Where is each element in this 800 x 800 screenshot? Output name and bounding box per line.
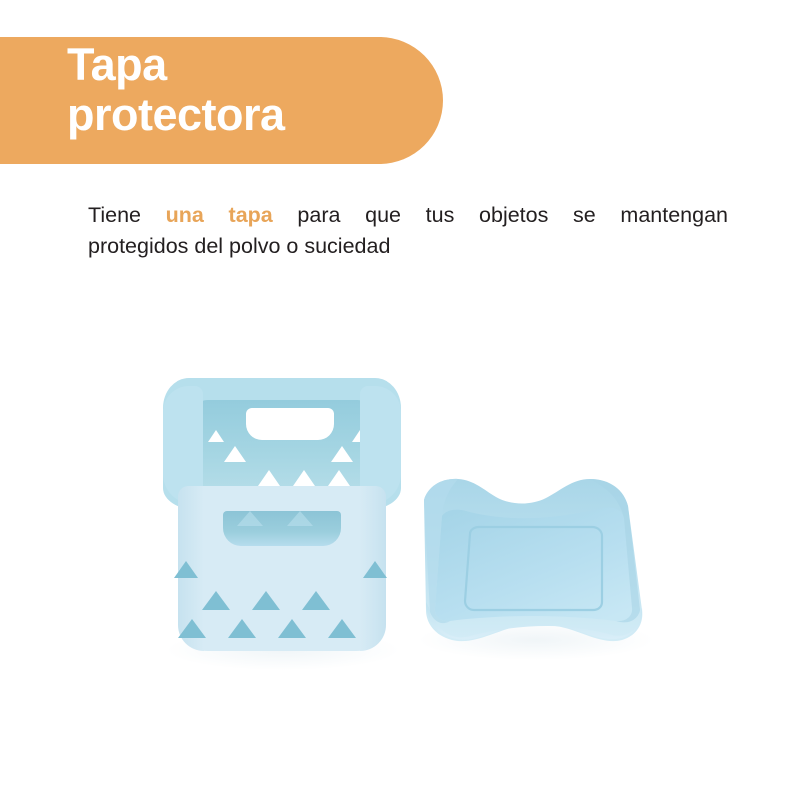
basket-front-triangle (202, 591, 230, 610)
basket-front-triangle (302, 591, 330, 610)
basket-cutout-triangle (293, 470, 315, 486)
product-lid (412, 470, 656, 652)
basket-back-handle-hole (246, 408, 334, 440)
basket-body (178, 486, 386, 651)
basket-front-triangle (252, 591, 280, 610)
basket-cutout-triangle (331, 446, 353, 462)
product-basket (160, 378, 405, 656)
basket-front-triangle (178, 619, 206, 638)
lid-shape (412, 470, 656, 652)
basket-front-triangle (363, 561, 387, 578)
basket-front-triangle (228, 619, 256, 638)
basket-cutout-triangle (258, 470, 280, 486)
basket-cutout-triangle (224, 446, 246, 462)
basket-front-triangle (278, 619, 306, 638)
product-illustration (0, 0, 800, 380)
basket-cutout-triangle (208, 430, 224, 442)
basket-front-triangle (174, 561, 198, 578)
basket-front-triangle (328, 619, 356, 638)
basket-cutout-triangle (328, 470, 350, 486)
basket-front-handle-slot (223, 511, 341, 546)
